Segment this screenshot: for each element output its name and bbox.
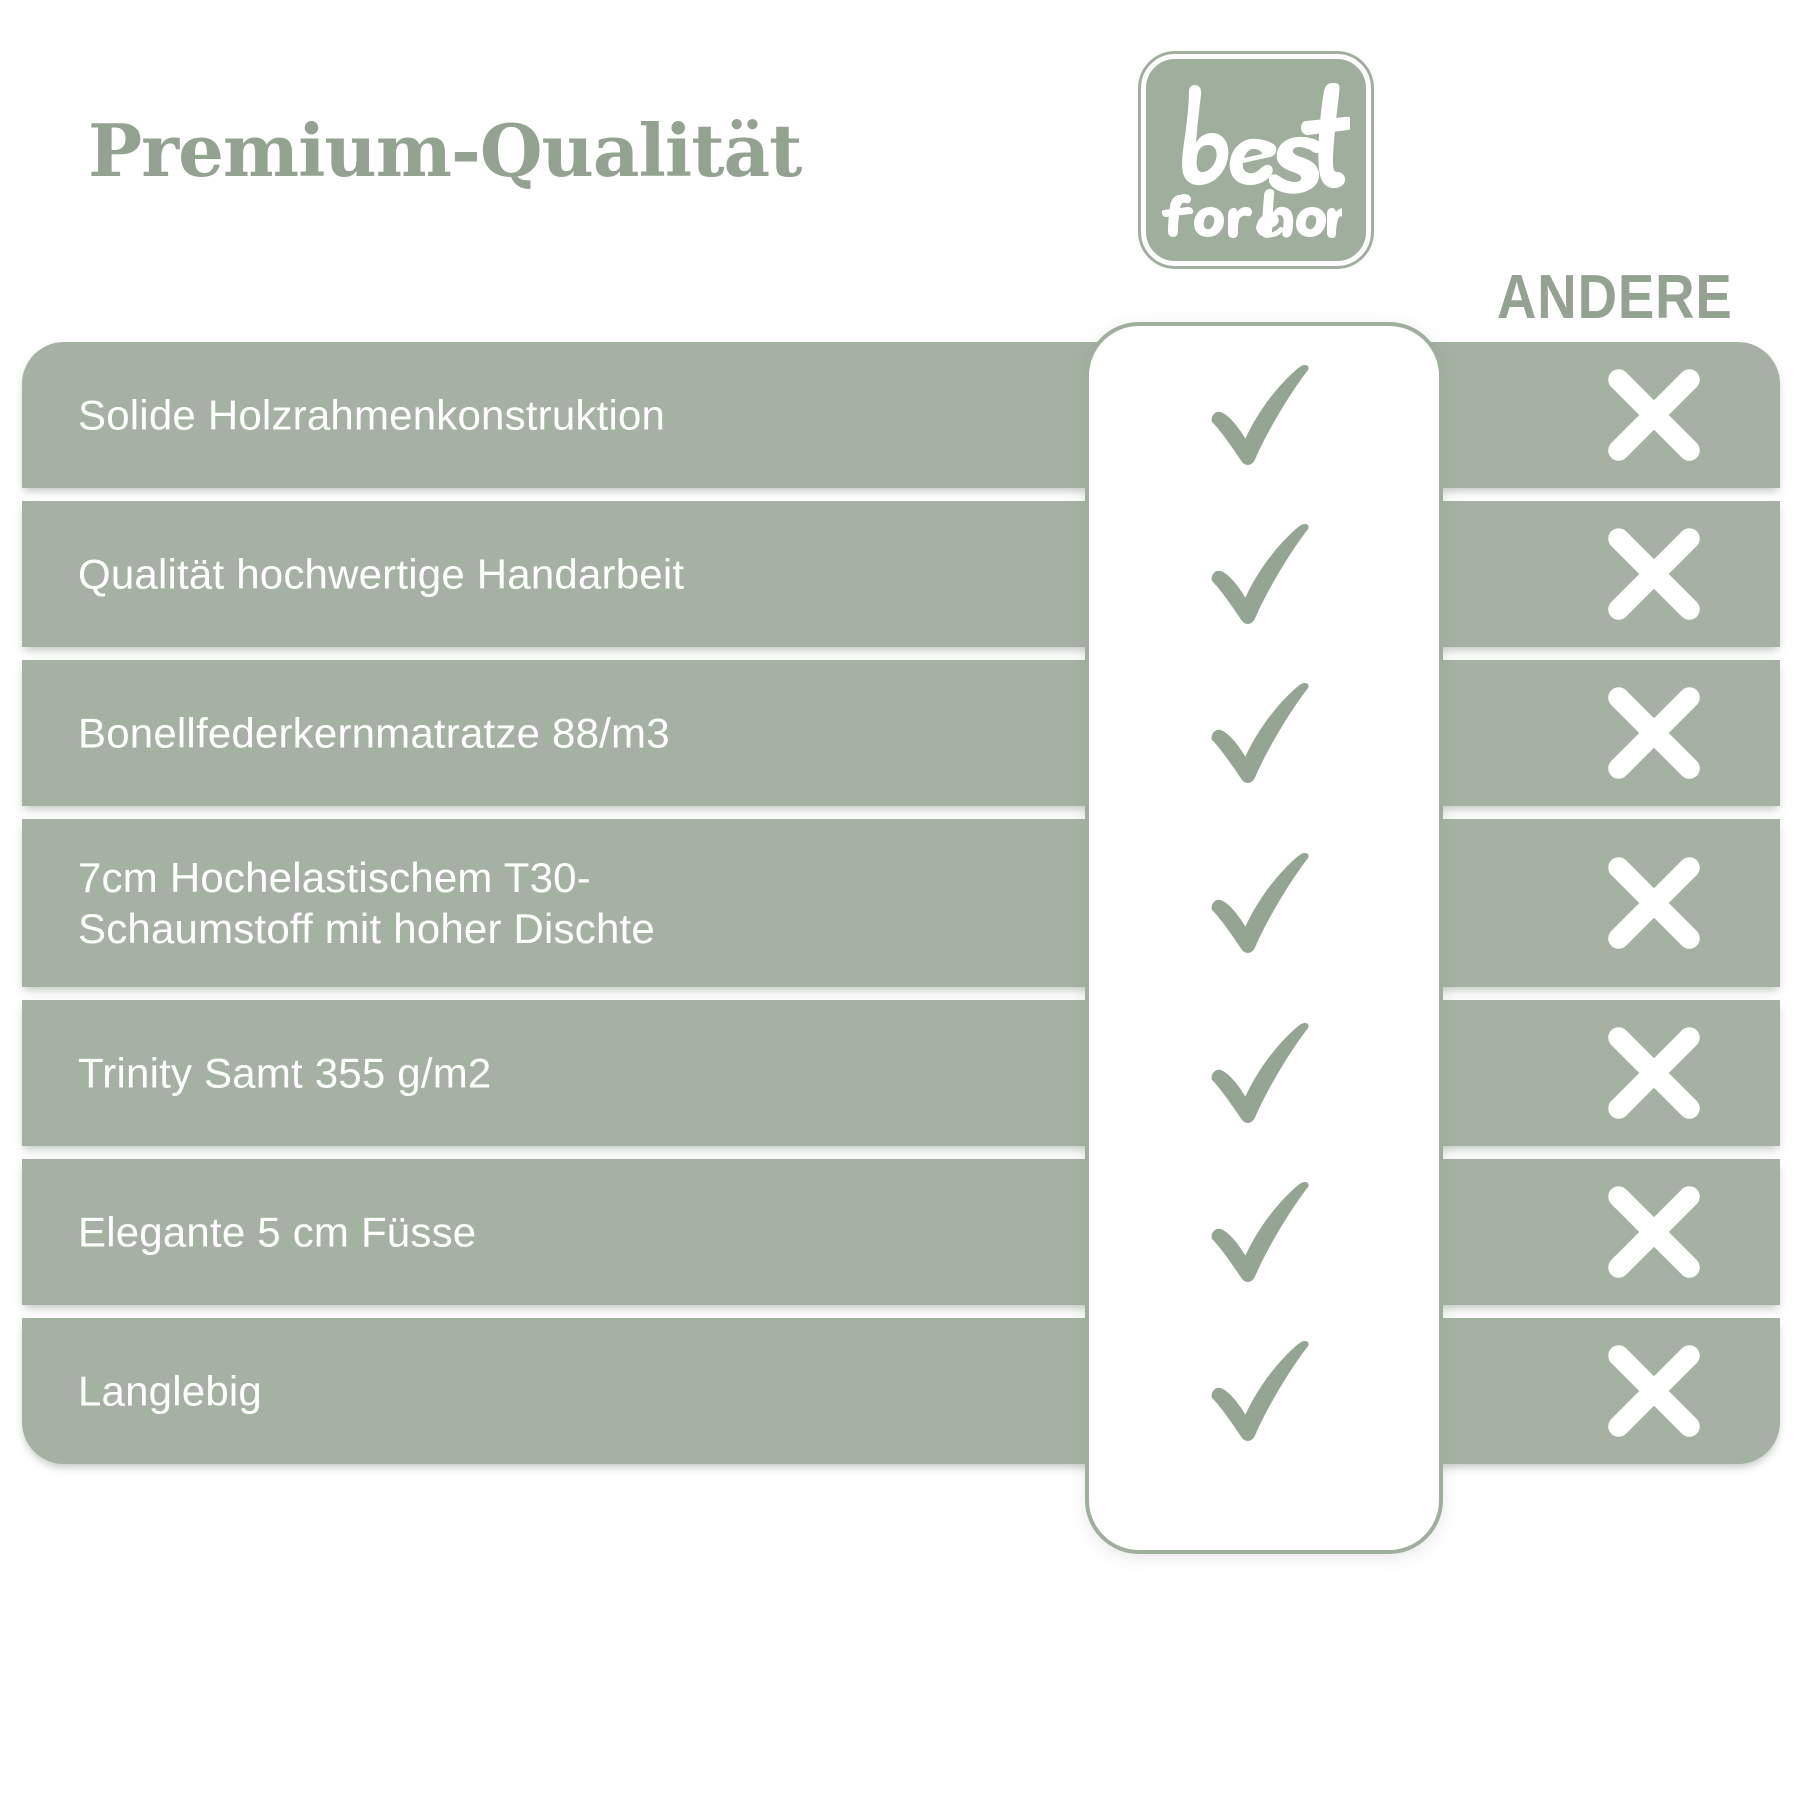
best-cell (1085, 520, 1445, 628)
cross-icon (1602, 363, 1706, 467)
table-row: Solide Holzrahmenkonstruktion (22, 342, 1780, 488)
comparison-table: Solide HolzrahmenkonstruktionQualität ho… (22, 342, 1780, 1464)
cross-icon (1602, 851, 1706, 955)
table-row: Trinity Samt 355 g/m2 (22, 1000, 1780, 1146)
feature-label: Langlebig (78, 1365, 262, 1416)
check-icon (1206, 679, 1324, 787)
logo-tagline-text (1162, 187, 1342, 239)
other-cell (1504, 1180, 1800, 1284)
check-icon (1206, 849, 1324, 957)
cross-icon (1602, 1021, 1706, 1125)
page-title: Premium-Qualität (88, 108, 801, 193)
table-row: Bonellfederkernmatratze 88/m3 (22, 660, 1780, 806)
table-row: 7cm Hochelastischem T30- Schaumstoff mit… (22, 819, 1780, 987)
column-header-andere: ANDERE (1497, 262, 1733, 333)
best-cell (1085, 1019, 1445, 1127)
cross-icon (1602, 681, 1706, 785)
check-icon (1206, 520, 1324, 628)
cross-icon (1602, 1180, 1706, 1284)
feature-label: Elegante 5 cm Füsse (78, 1206, 476, 1257)
table-row: Langlebig (22, 1318, 1780, 1464)
check-icon (1206, 1337, 1324, 1445)
feature-label: Trinity Samt 355 g/m2 (78, 1047, 491, 1098)
best-for-home-logo (1141, 54, 1371, 266)
check-icon (1206, 361, 1324, 469)
check-icon (1206, 1178, 1324, 1286)
feature-label: 7cm Hochelastischem T30- Schaumstoff mit… (78, 852, 655, 954)
other-cell (1504, 1021, 1800, 1125)
best-cell (1085, 1178, 1445, 1286)
check-icon (1206, 1019, 1324, 1127)
table-row: Elegante 5 cm Füsse (22, 1159, 1780, 1305)
best-cell (1085, 849, 1445, 957)
table-row: Qualität hochwertige Handarbeit (22, 501, 1780, 647)
feature-label: Bonellfederkernmatratze 88/m3 (78, 707, 670, 758)
best-cell (1085, 1337, 1445, 1445)
other-cell (1504, 363, 1800, 467)
cross-icon (1602, 1339, 1706, 1443)
feature-label: Solide Holzrahmenkonstruktion (78, 389, 665, 440)
other-cell (1504, 851, 1800, 955)
feature-label: Qualität hochwertige Handarbeit (78, 548, 684, 599)
cross-icon (1602, 522, 1706, 626)
other-cell (1504, 681, 1800, 785)
logo-brand-text (1172, 77, 1350, 195)
other-cell (1504, 1339, 1800, 1443)
best-cell (1085, 361, 1445, 469)
other-cell (1504, 522, 1800, 626)
best-cell (1085, 679, 1445, 787)
